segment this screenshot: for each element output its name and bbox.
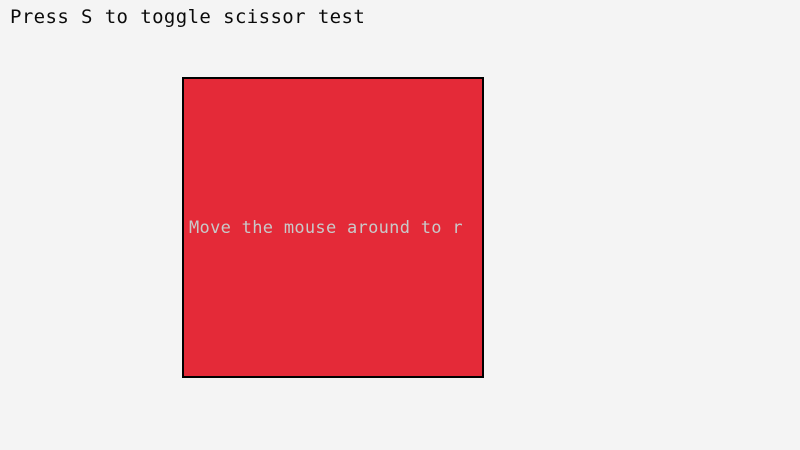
scissor-clip-region: Move the mouse around to r [184,79,482,376]
app-canvas: Press S to toggle scissor test Move the … [0,0,800,450]
scissor-clipped-message: Move the mouse around to r [189,218,463,238]
scissor-test-rectangle[interactable]: Move the mouse around to r [182,77,484,378]
hud-instruction-text: Press S to toggle scissor test [10,6,365,28]
